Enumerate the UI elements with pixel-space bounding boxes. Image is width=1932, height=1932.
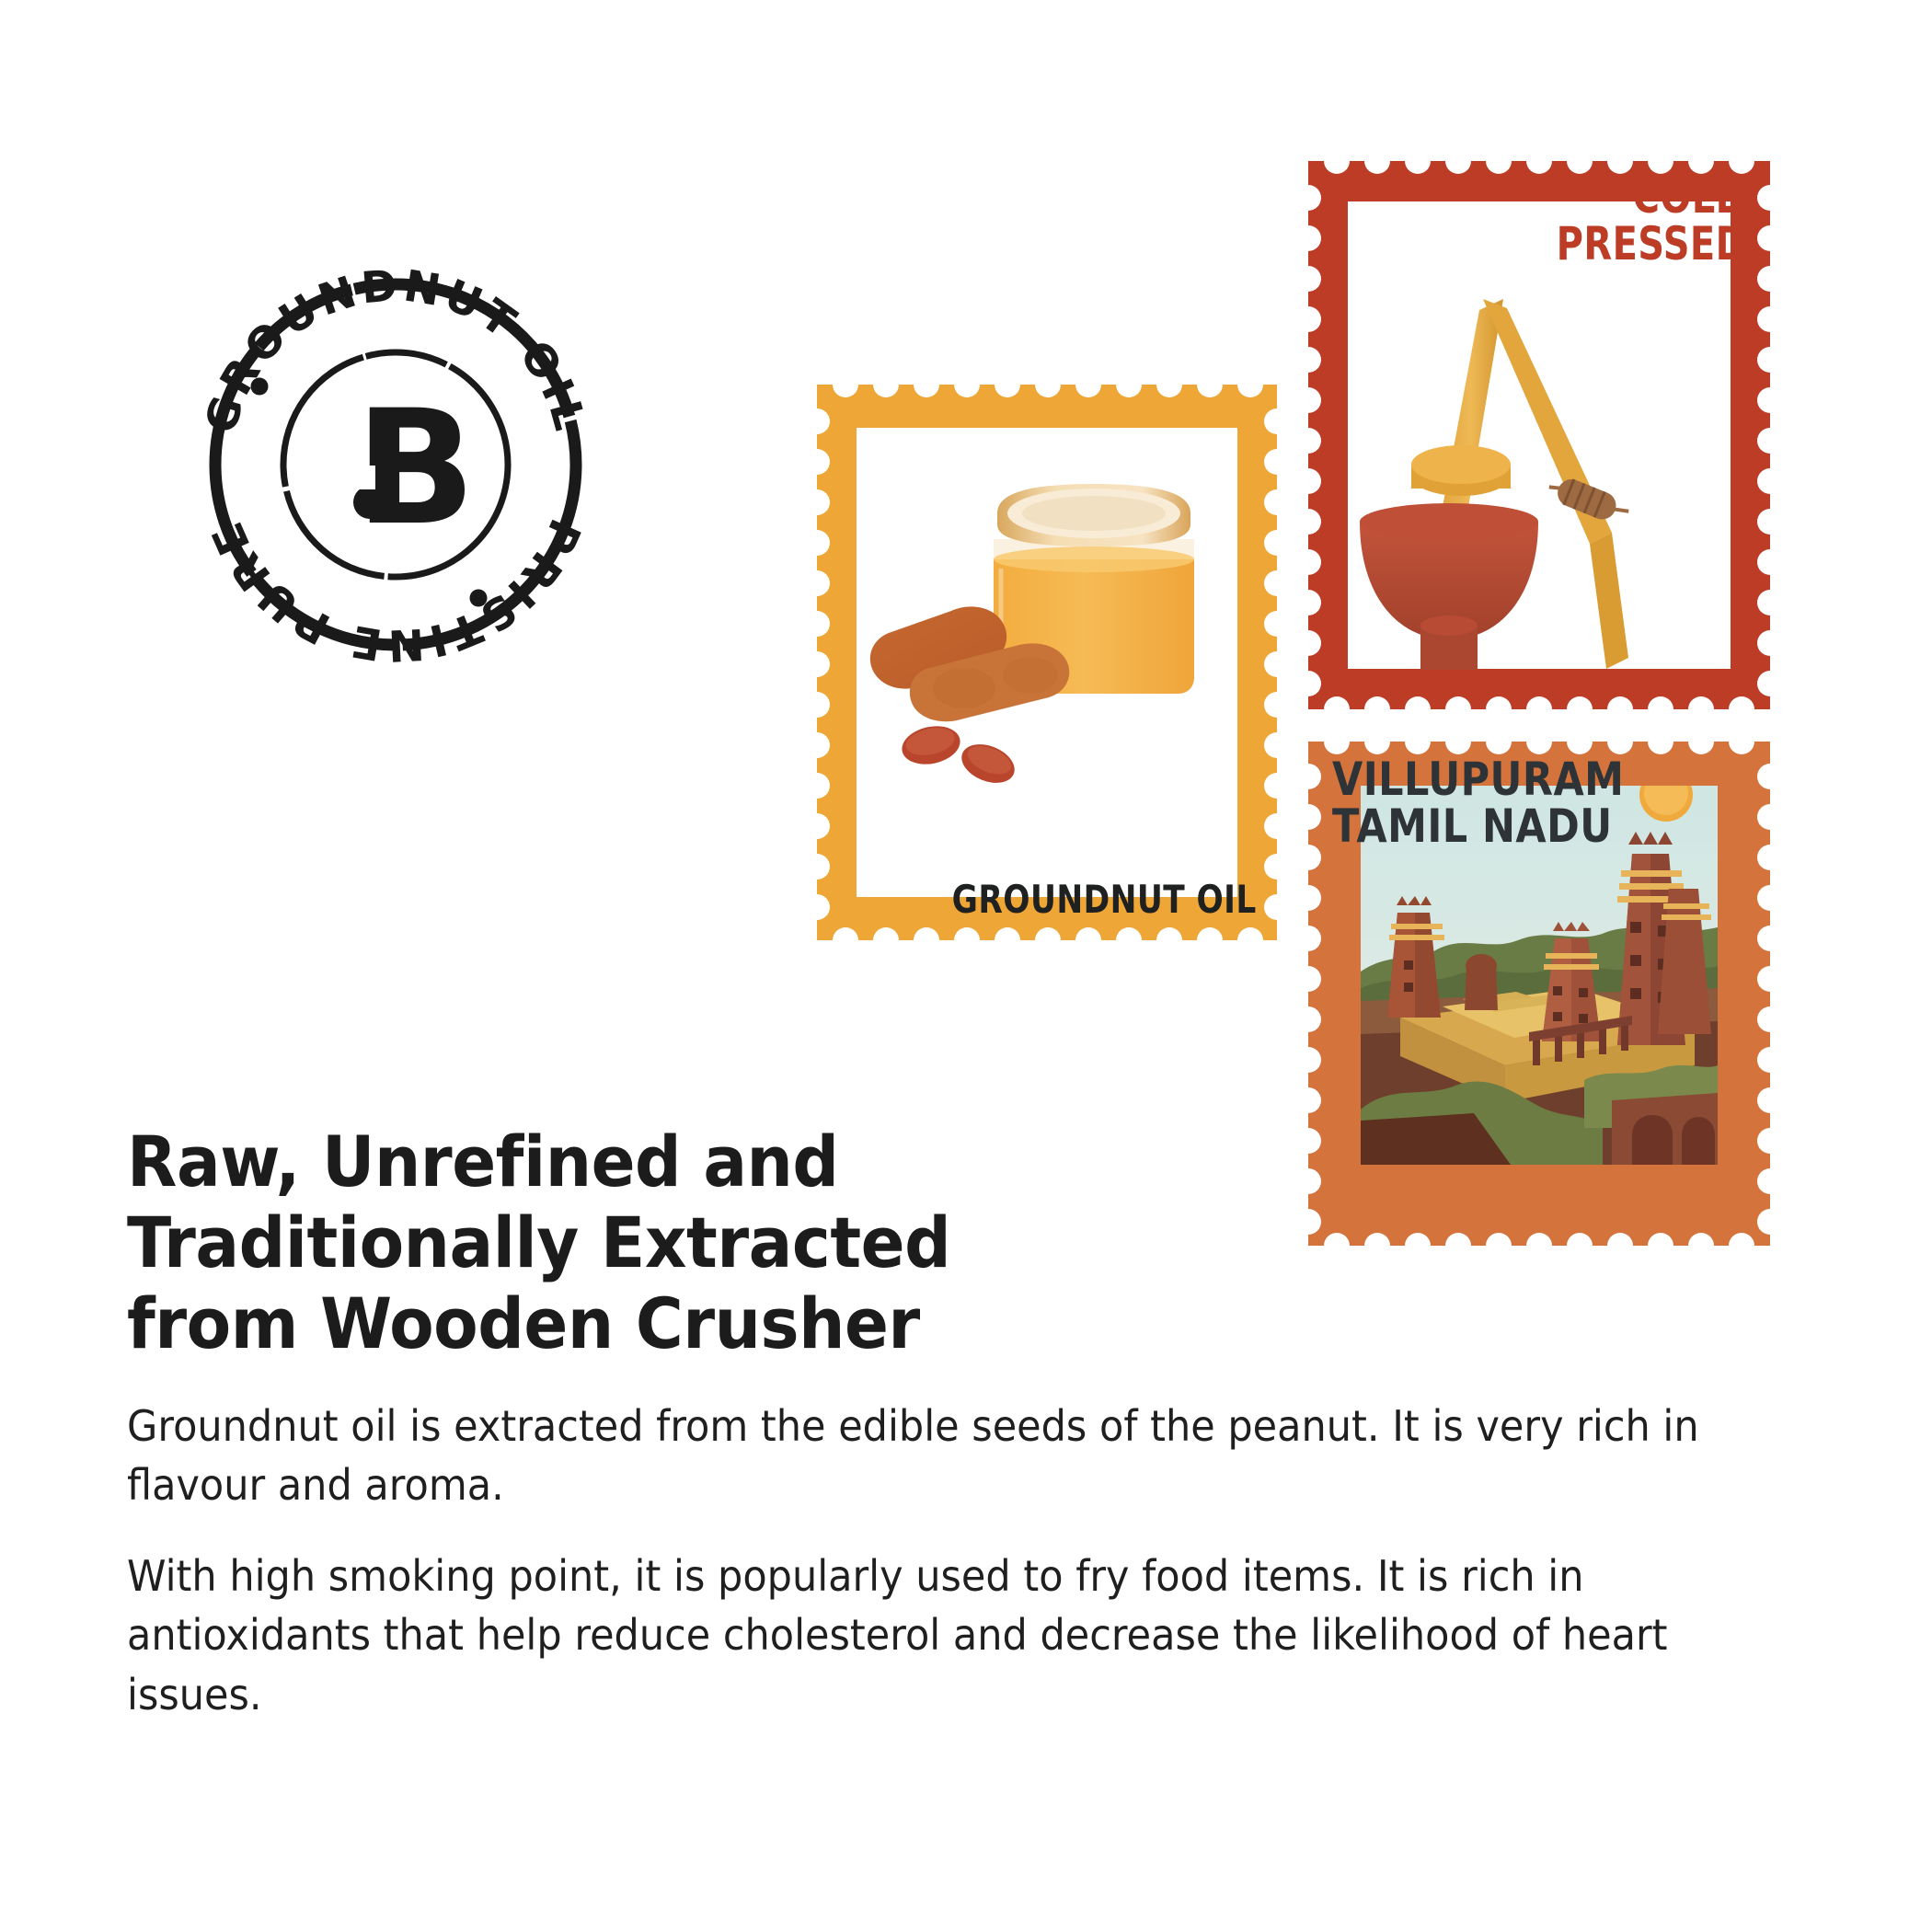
stamp-groundnut-oil: GROUNDNUT OIL [817, 385, 1277, 940]
body-paragraph-1: Groundnut oil is extracted from the edib… [127, 1397, 1706, 1515]
stamp-villupuram-label: VILLUPURAM TAMIL NADU [1332, 756, 1624, 850]
seal-monogram-b: B [351, 375, 476, 560]
stamp-villupuram-tamil-nadu: VILLUPURAM TAMIL NADU [1308, 742, 1770, 1246]
seal-dot-left [251, 378, 269, 396]
seal-dot-right [470, 590, 488, 607]
product-feature-card: GROUNDNUT OIL PRISTINE PURE B [0, 0, 1932, 1932]
stamp-cold-pressed: COLD PRESSED [1308, 161, 1770, 709]
body-copy: Groundnut oil is extracted from the edib… [127, 1397, 1706, 1755]
stamp-cold-pressed-label: COLD PRESSED [1556, 174, 1746, 268]
body-paragraph-2: With high smoking point, it is popularly… [127, 1547, 1706, 1724]
stamp-groundnut-label: GROUNDNUT OIL [952, 880, 1257, 920]
page-headline: Raw, Unrefined and Traditionally Extract… [127, 1121, 1154, 1364]
pristine-pure-seal: GROUNDNUT OIL PRISTINE PURE B [175, 244, 616, 685]
